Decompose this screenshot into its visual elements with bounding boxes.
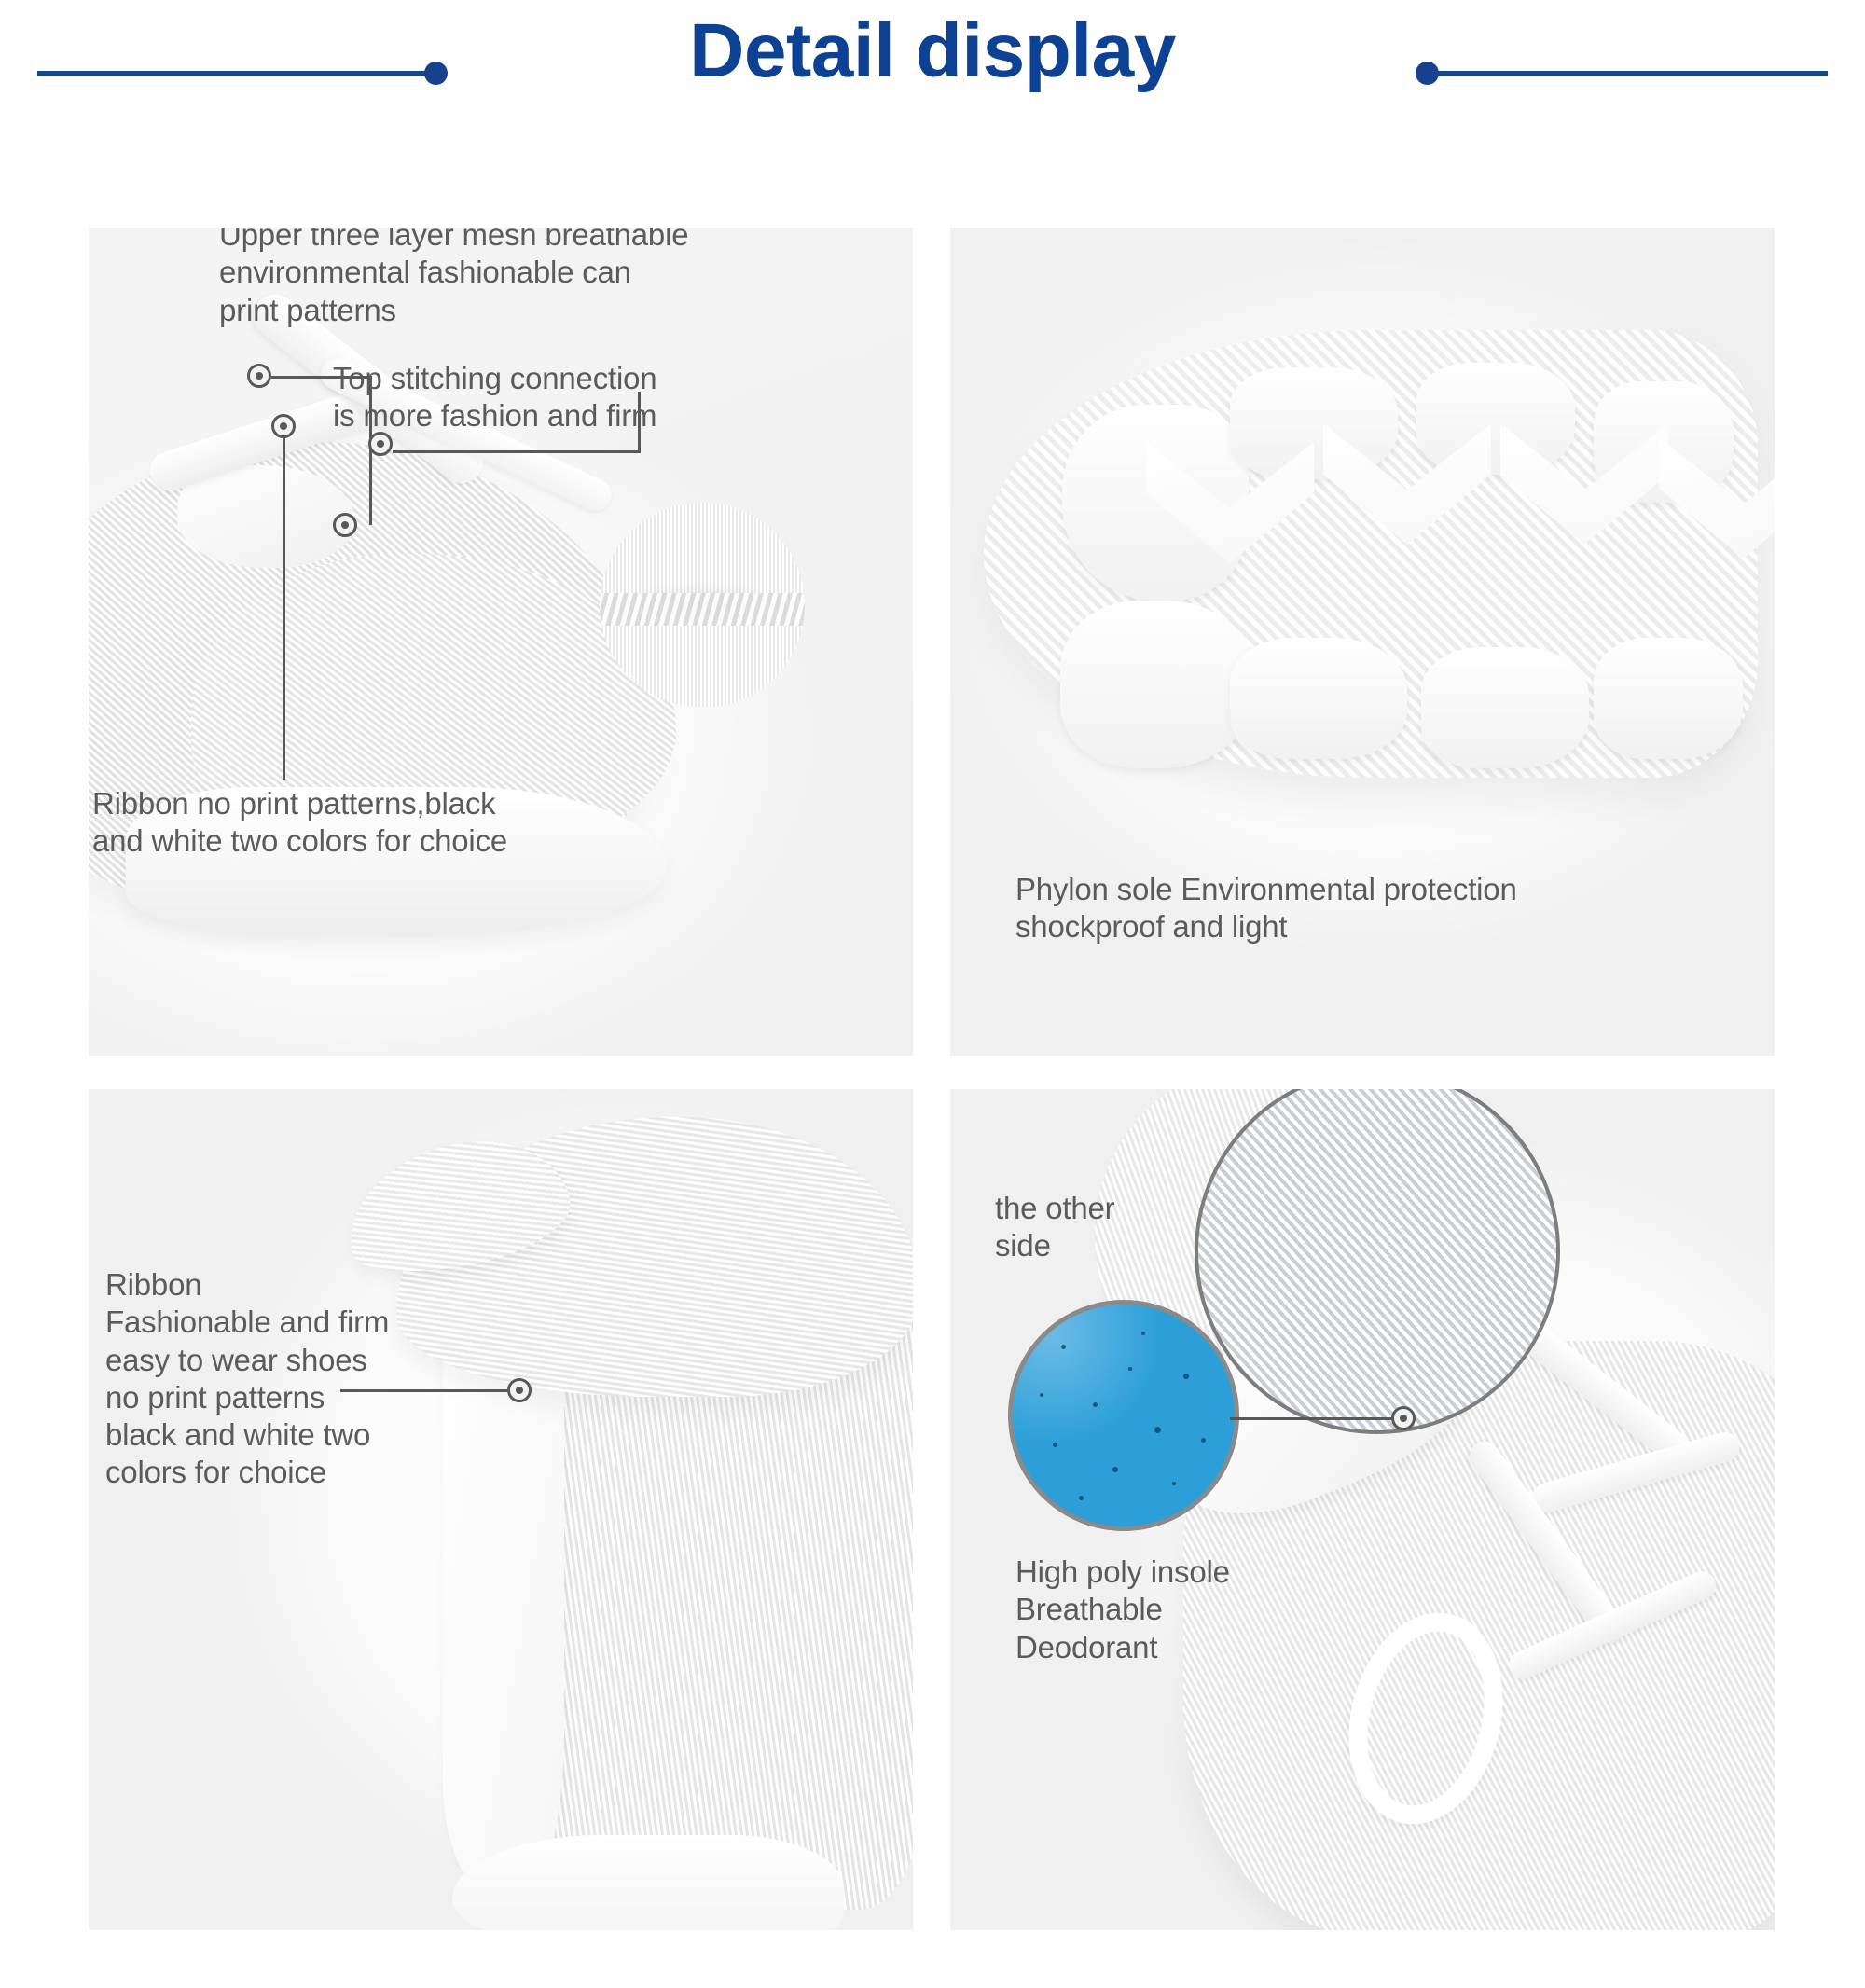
leader-line-c-v: [638, 392, 641, 453]
insole-note: High poly insole Breathable Deodorant: [1015, 1553, 1407, 1666]
callout-marker-lace-eyelet[interactable]: [247, 364, 271, 388]
top-stitching-note: Top stitching connection is more fashion…: [333, 360, 762, 435]
panel-phylon-sole: Phylon sole Environmental protection sho…: [950, 228, 1775, 1056]
insole-zoom-inset: [1008, 1300, 1239, 1531]
stitching-zoom-inset: [600, 503, 805, 708]
panel-high-poly-insole: the other side High poly insole Breathab…: [950, 1089, 1775, 1930]
shoe-tongue-shape: [177, 465, 354, 568]
tread-block-3: [1230, 367, 1398, 479]
tread-block-2: [1060, 601, 1256, 768]
upper-mesh-note: Upper three layer mesh breathable enviro…: [219, 228, 797, 329]
ribbon-note: Ribbon no print patterns,black and white…: [92, 785, 670, 861]
panel-upper-mesh: Upper three layer mesh breathable enviro…: [89, 228, 913, 1056]
page-title: Detail display: [0, 13, 1865, 90]
detail-panel-grid: Upper three layer mesh breathable enviro…: [89, 228, 1775, 1930]
detail-display-page: Detail display Upper three layer mesh br…: [0, 0, 1865, 1988]
page-header: Detail display: [0, 0, 1865, 168]
phylon-sole-note: Phylon sole Environmental protection sho…: [1015, 871, 1743, 946]
other-side-note: the other side: [995, 1190, 1237, 1265]
callout-marker-mesh[interactable]: [333, 513, 357, 537]
leader-line-a-h: [271, 376, 372, 379]
ribbon-detail-note: Ribbon Fashionable and firm easy to wear…: [105, 1266, 478, 1492]
callout-marker-ribbon-tab[interactable]: [507, 1378, 532, 1402]
leader-line-ribbon-h: [340, 1389, 516, 1392]
tread-block-4: [1230, 638, 1407, 759]
header-line-right-icon: [1431, 71, 1828, 76]
tread-block-8: [1594, 638, 1743, 759]
heel-midsole-shape: [452, 1835, 844, 1930]
leader-line-b-v: [283, 438, 285, 780]
tread-block-5: [1416, 363, 1575, 475]
callout-marker-insole[interactable]: [1391, 1406, 1416, 1430]
leader-line-c-h: [393, 450, 641, 453]
callout-marker-stitching[interactable]: [368, 432, 393, 456]
callout-marker-ribbon[interactable]: [271, 414, 296, 438]
panel-ribbon-pull: Ribbon Fashionable and firm easy to wear…: [89, 1089, 913, 1930]
leader-line-insole-h: [1230, 1417, 1402, 1420]
tread-block-6: [1421, 647, 1589, 768]
